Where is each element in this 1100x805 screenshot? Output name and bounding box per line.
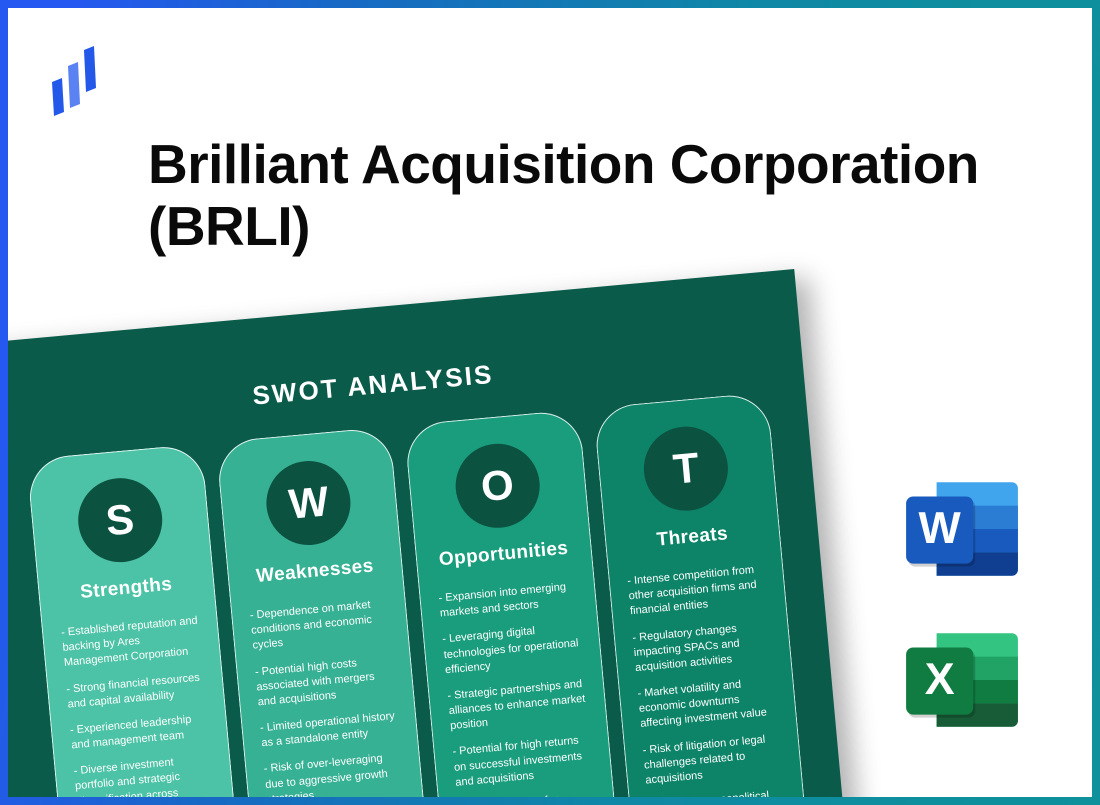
list-item: - Intense competition from other acquisi… <box>627 562 768 620</box>
swot-poster-board: SWOT ANALYSIS S Strengths - Established … <box>8 269 845 797</box>
swot-poster: SWOT ANALYSIS S Strengths - Established … <box>8 269 845 797</box>
office-icons: W X <box>900 468 1030 770</box>
swot-badge-o: O <box>452 440 543 531</box>
list-item: - Strategic partnerships and alliances t… <box>447 677 588 735</box>
brand-logo <box>48 40 104 116</box>
list-item: - Diverse investment portfolio and strat… <box>73 752 215 797</box>
list-item: - Growing market for SPACs (Special Purp… <box>457 789 598 797</box>
page-title: Brilliant Acquisition Corporation (BRLI) <box>148 134 1028 257</box>
swot-card-title-strengths: Strengths <box>57 572 196 606</box>
list-item: - Market volatility and economic downtur… <box>637 675 778 733</box>
list-item: - Potential high costs associated with m… <box>254 653 395 711</box>
swot-bullets-weaknesses: - Dependence on market conditions and ec… <box>249 596 409 797</box>
list-item: - Experienced leadership and management … <box>69 711 209 754</box>
swot-badge-s: S <box>74 475 165 566</box>
microsoft-word-icon[interactable]: W <box>900 468 1030 595</box>
svg-text:X: X <box>925 655 955 704</box>
swot-badge-w: W <box>263 457 354 548</box>
list-item: - Established reputation and backing by … <box>61 614 202 672</box>
list-item: - Potential for high returns on successf… <box>452 733 593 791</box>
page-title-line1: Brilliant Acquisition Corporation <box>148 134 1028 196</box>
swot-bullets-threats: - Intense competition from other acquisi… <box>627 562 789 797</box>
page-title-line2: (BRLI) <box>148 196 1028 258</box>
list-item: - Leveraging digital technologies for op… <box>442 620 583 678</box>
page-root: Brilliant Acquisition Corporation (BRLI)… <box>0 0 1100 805</box>
swot-card-threats: T Threats - Intense competition from oth… <box>592 392 810 797</box>
swot-card-title-weaknesses: Weaknesses <box>245 555 384 589</box>
swot-bullets-strengths: - Established reputation and backing by … <box>61 614 221 797</box>
microsoft-excel-icon[interactable]: X <box>900 619 1030 746</box>
list-item: - Strong financial resources and capital… <box>66 670 206 713</box>
list-item: - Dependence on market conditions and ec… <box>249 596 390 654</box>
svg-text:W: W <box>919 504 962 553</box>
list-item: - Expansion into emerging markets and se… <box>438 579 578 622</box>
swot-card-strengths: S Strengths - Established reputation and… <box>26 444 244 797</box>
swot-quadrants: S Strengths - Established reputation and… <box>26 392 810 797</box>
swot-card-weaknesses: W Weaknesses - Dependence on market cond… <box>215 426 433 797</box>
page-canvas: Brilliant Acquisition Corporation (BRLI)… <box>8 8 1092 797</box>
swot-card-title-threats: Threats <box>623 520 762 554</box>
swot-card-title-opportunities: Opportunities <box>434 537 573 571</box>
swot-badge-t: T <box>640 423 731 514</box>
list-item: - Risk of over-leveraging due to aggress… <box>263 750 404 797</box>
swot-card-opportunities: O Opportunities - Expansion into emergin… <box>404 409 622 797</box>
list-item: - Risk of litigation or legal challenges… <box>642 731 783 789</box>
list-item: - Unforeseen geopolitical events disrupt… <box>647 787 788 797</box>
swot-bullets-opportunities: - Expansion into emerging markets and se… <box>438 579 598 797</box>
list-item: - Regulatory changes impacting SPACs and… <box>632 618 773 676</box>
list-item: - Limited operational history as a stand… <box>260 709 400 752</box>
